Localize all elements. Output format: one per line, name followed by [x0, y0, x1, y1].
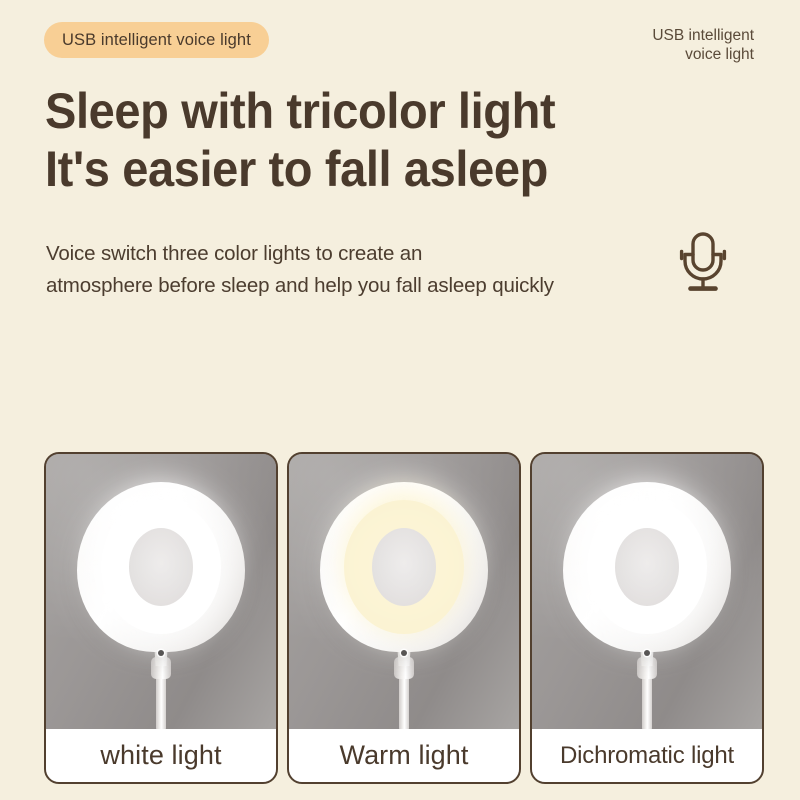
product-photo	[289, 454, 519, 731]
page-subtitle-line1: Voice switch three color lights to creat…	[46, 238, 686, 270]
voice-sensor-dot	[644, 650, 650, 656]
page-subtitle-line2: atmosphere before sleep and help you fal…	[46, 270, 686, 302]
lamp-head	[320, 482, 488, 652]
product-photo	[46, 454, 276, 731]
corner-product-label-line2: voice light	[652, 45, 754, 64]
lamp-ring-center	[129, 528, 193, 606]
lamp-illustration	[289, 454, 519, 731]
product-badge-label: USB intelligent voice light	[62, 31, 251, 50]
microphone-icon	[672, 230, 734, 296]
lamp-rod	[156, 670, 166, 731]
product-card-dichromatic-light[interactable]: Dichromatic light	[530, 452, 764, 784]
page-title: Sleep with tricolor light It's easier to…	[45, 82, 555, 198]
product-card-caption: Warm light	[289, 729, 519, 782]
lamp-head	[563, 482, 731, 652]
product-variant-cards: white light Warm light	[44, 452, 764, 784]
corner-product-label-line1: USB intelligent	[652, 26, 754, 45]
product-card-white-light[interactable]: white light	[44, 452, 278, 784]
lamp-illustration	[46, 454, 276, 731]
lamp-illustration	[532, 454, 762, 731]
product-card-warm-light[interactable]: Warm light	[287, 452, 521, 784]
product-card-caption: white light	[46, 729, 276, 782]
voice-sensor-dot	[401, 650, 407, 656]
page-title-line2: It's easier to fall asleep	[45, 140, 555, 198]
lamp-rod	[642, 670, 652, 731]
corner-product-label: USB intelligent voice light	[652, 26, 754, 64]
page-title-line1: Sleep with tricolor light	[45, 82, 555, 140]
lamp-rod	[399, 670, 409, 731]
product-card-caption: Dichromatic light	[532, 729, 762, 782]
voice-sensor-dot	[158, 650, 164, 656]
lamp-ring-center	[372, 528, 436, 606]
product-promo-page: USB intelligent voice light USB intellig…	[0, 0, 800, 800]
lamp-head	[77, 482, 245, 652]
product-badge: USB intelligent voice light	[44, 22, 269, 58]
lamp-ring-center	[615, 528, 679, 606]
page-subtitle: Voice switch three color lights to creat…	[46, 238, 686, 302]
product-photo	[532, 454, 762, 731]
